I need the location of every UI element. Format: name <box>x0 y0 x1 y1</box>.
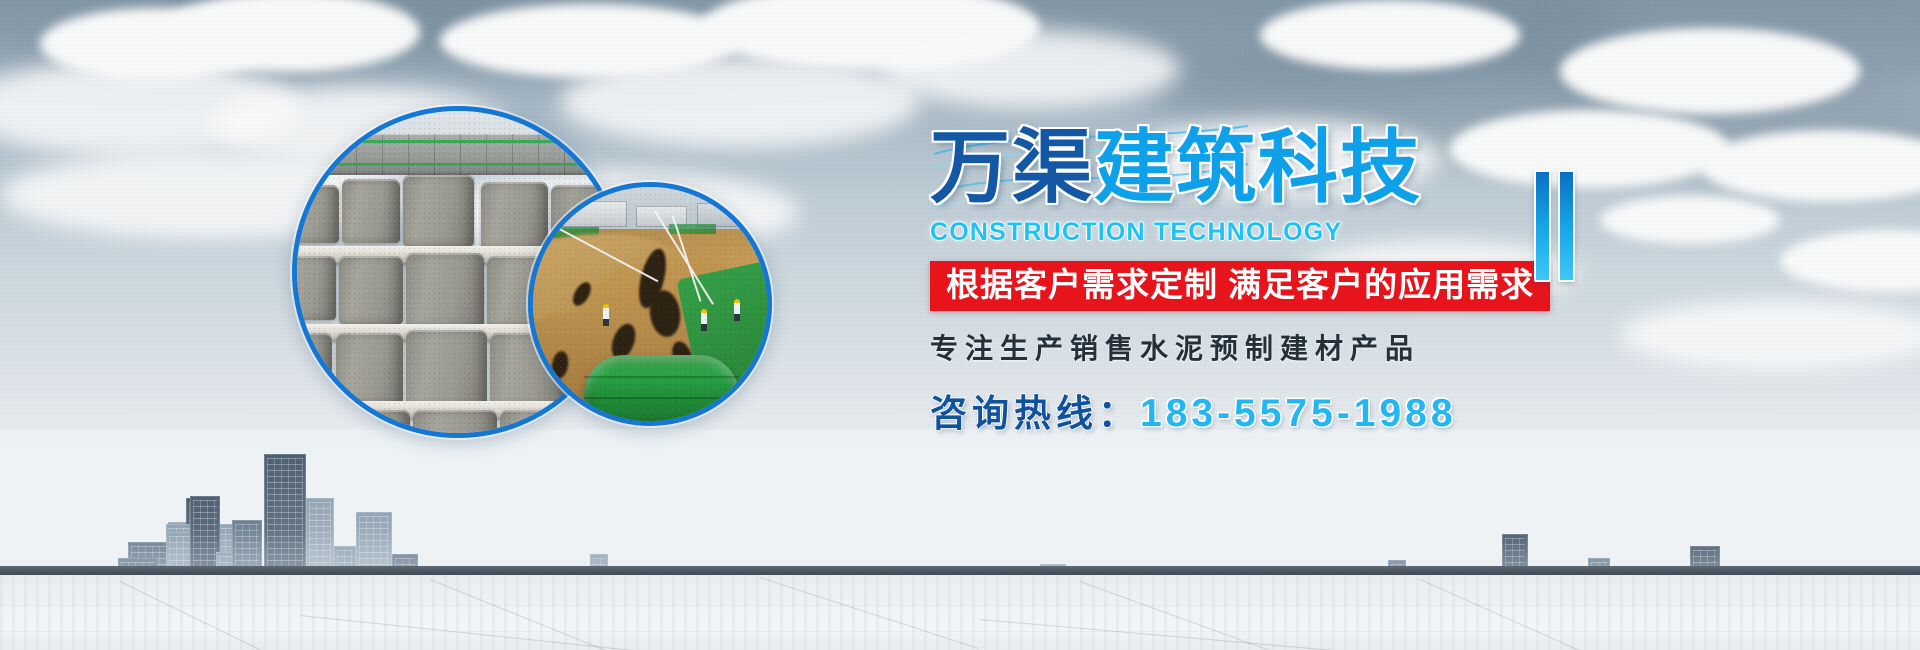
company-title: 万渠建筑科技 <box>930 120 1610 216</box>
title-primary: 万渠 <box>930 123 1094 212</box>
banner-text-block: 万渠建筑科技 CONSTRUCTION TECHNOLOGY 根据客户需求定制 … <box>930 120 1610 437</box>
accent-bar <box>1558 170 1575 282</box>
english-subtitle: CONSTRUCTION TECHNOLOGY <box>930 218 1610 247</box>
horizon-line <box>0 566 1920 575</box>
plaza-ground <box>0 575 1920 650</box>
red-highlight-banner: 根据客户需求定制 满足客户的应用需求 <box>930 261 1550 311</box>
hotline-label: 咨询热线： <box>930 393 1140 434</box>
construction-company-banner: 万渠建筑科技 CONSTRUCTION TECHNOLOGY 根据客户需求定制 … <box>0 0 1920 650</box>
accent-bar <box>1534 170 1551 282</box>
title-secondary: 建筑科技 <box>1094 123 1422 212</box>
photo-septic-tank-installation <box>528 182 772 426</box>
hotline-row: 咨询热线：183-5575-1988 <box>930 383 1610 437</box>
company-slogan: 专注生产销售水泥预制建材产品 <box>930 327 1610 367</box>
title-accent-bars <box>1534 170 1575 282</box>
red-banner-text: 根据客户需求定制 满足客户的应用需求 <box>946 266 1534 303</box>
hotline-number[interactable]: 183-5575-1988 <box>1140 392 1457 435</box>
